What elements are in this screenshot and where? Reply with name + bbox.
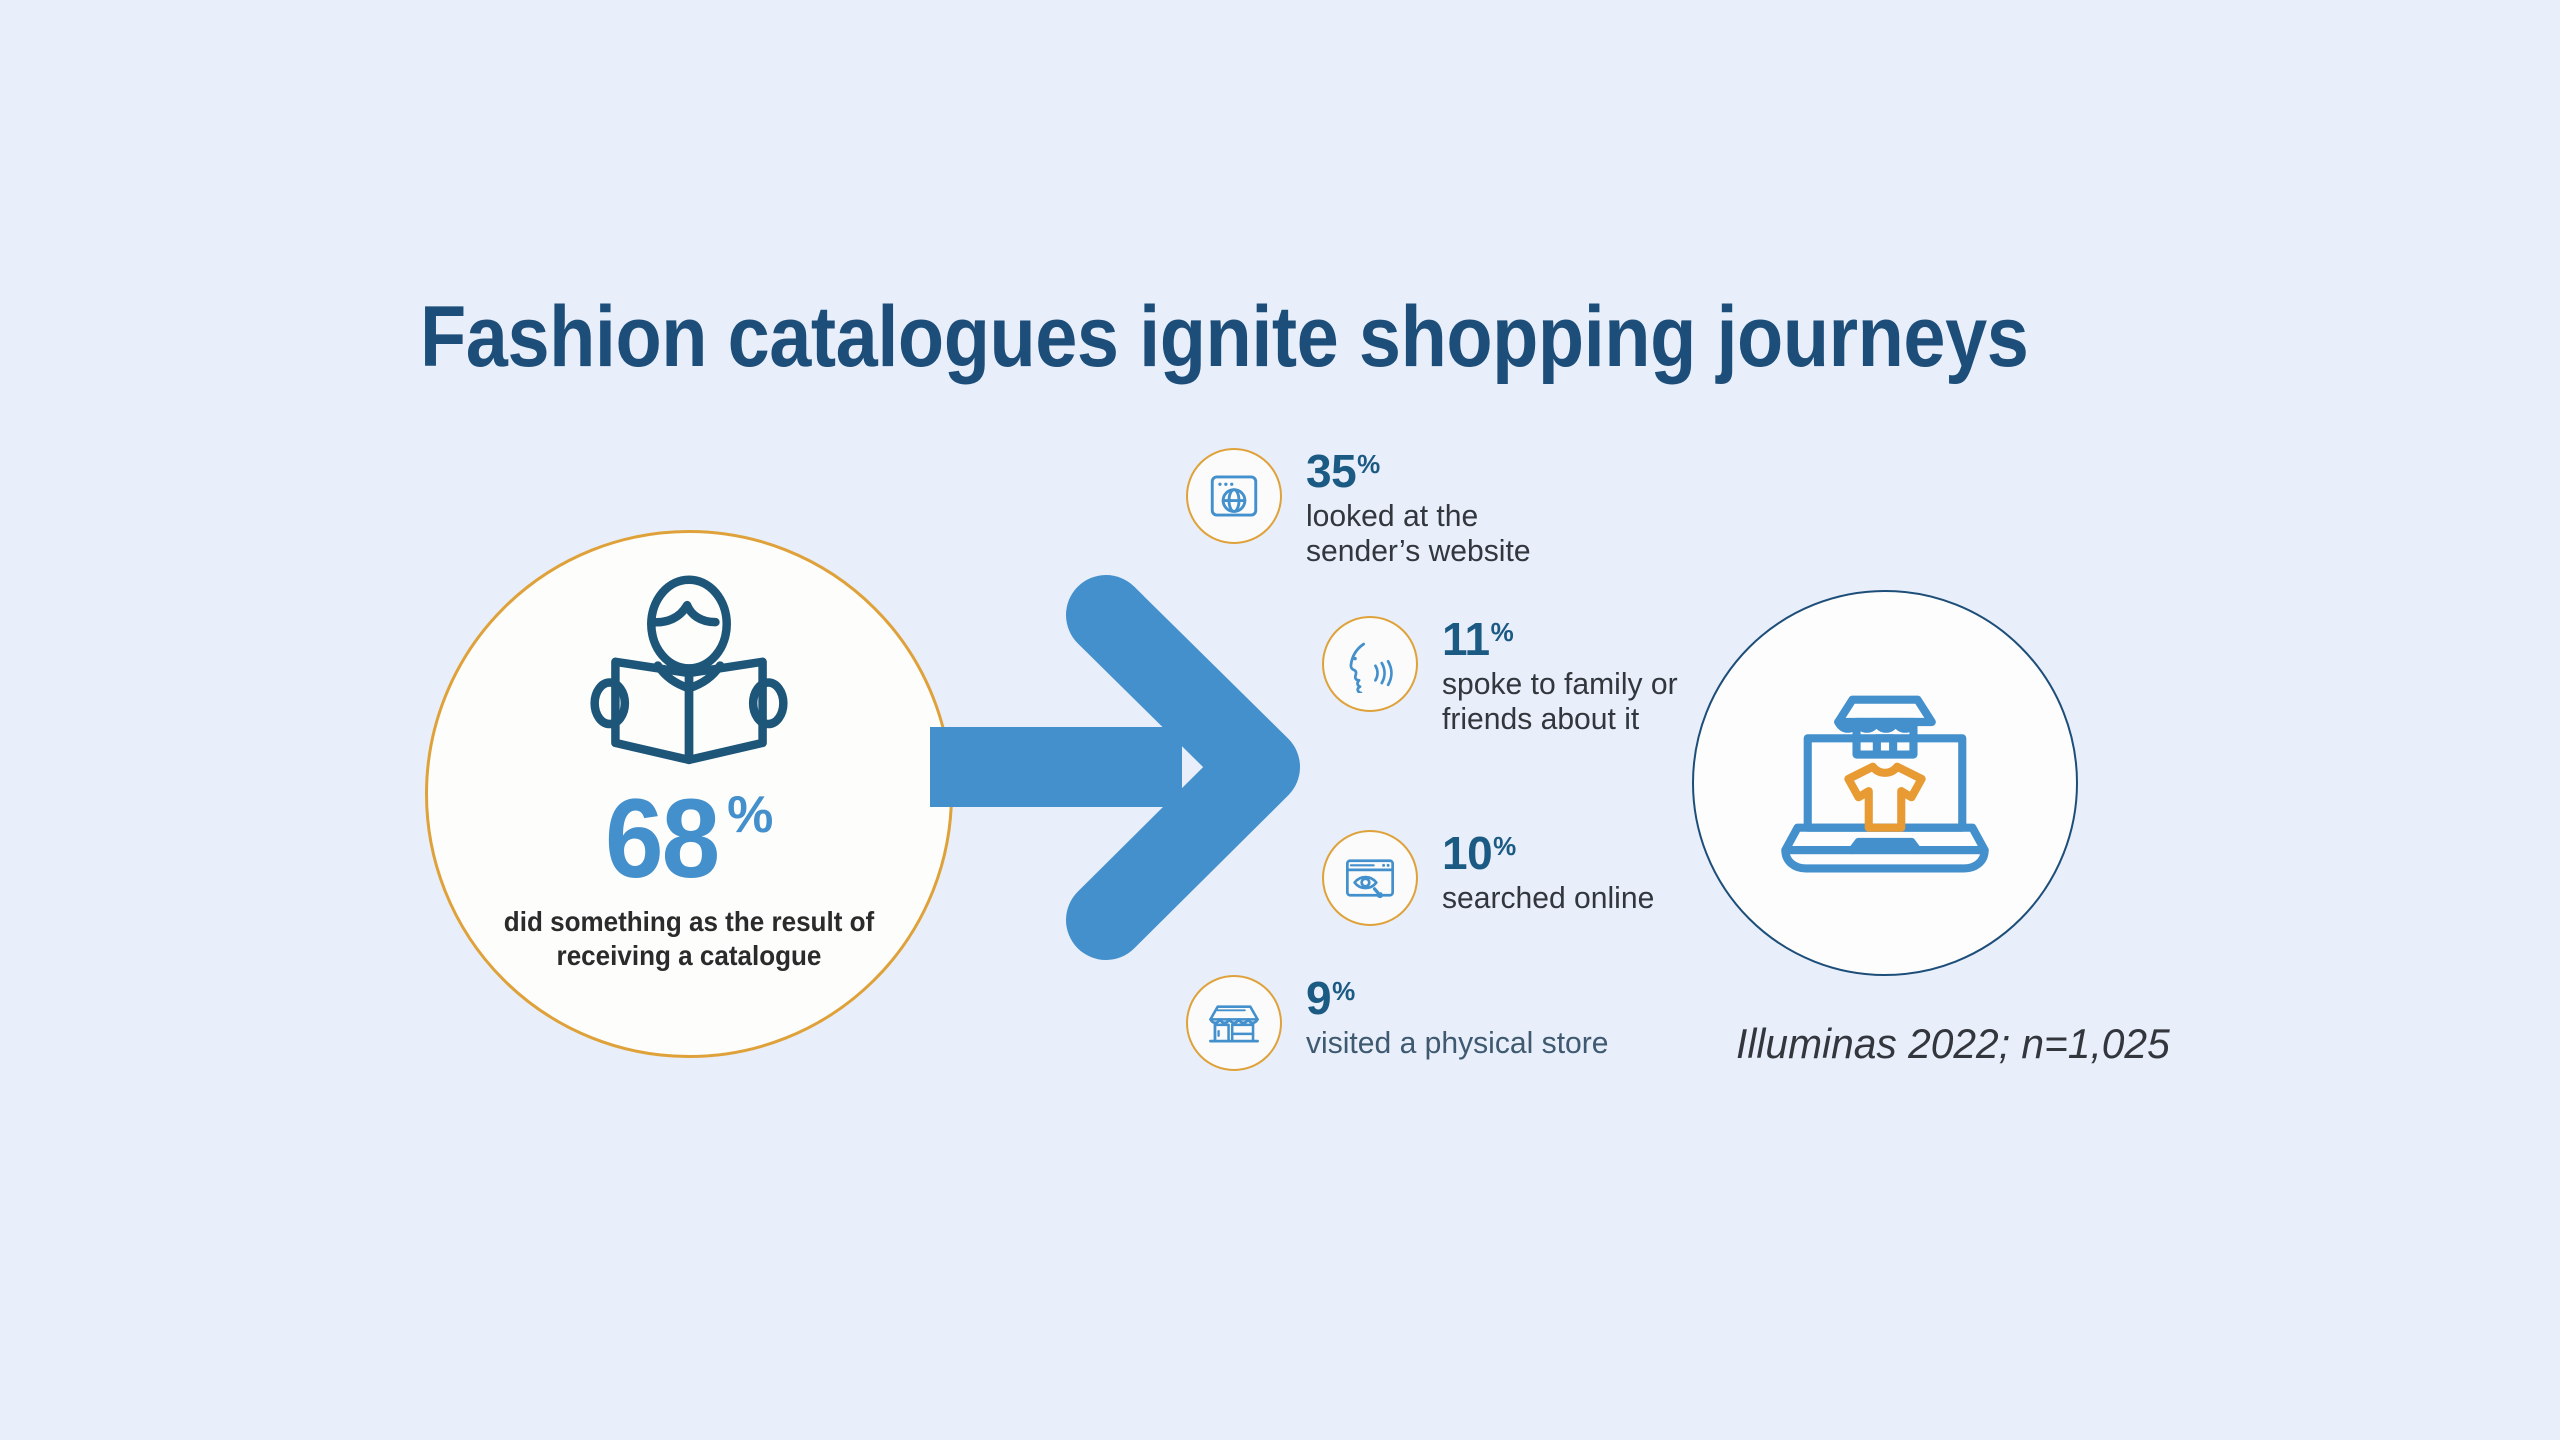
infographic-canvas: Fashion catalogues ignite shopping journ… (0, 0, 2560, 1440)
outcome-circle (1692, 590, 2078, 976)
laptop-shop-tshirt-icon (1763, 661, 2007, 905)
stat-label: visited a physical store (1306, 1025, 1609, 1060)
page-title: Fashion catalogues ignite shopping journ… (420, 288, 2028, 387)
stat-percentage: 35 % (1306, 450, 1538, 494)
stat-text: 9 % visited a physical store (1306, 975, 1618, 1060)
stat-value: 9 (1306, 977, 1331, 1021)
right-arrow-icon (930, 575, 1310, 960)
hero-percentage: 68 % (605, 783, 774, 895)
stat-percentage: 11 % (1442, 618, 1685, 662)
stat-row: 10 % searched online (1322, 830, 1661, 926)
speaking-face-icon (1322, 616, 1418, 712)
hero-caption: did something as the result of receiving… (446, 905, 931, 973)
stat-value: 35 (1306, 450, 1356, 494)
stat-label: looked at the sender’s website (1306, 498, 1531, 568)
stat-row: 11 % spoke to family or friends about it (1322, 616, 1685, 736)
stat-percentage: 9 % (1306, 977, 1618, 1021)
storefront-icon (1186, 975, 1282, 1071)
stat-percent-symbol: % (1357, 452, 1380, 477)
stat-label: searched online (1442, 880, 1654, 915)
browser-globe-icon (1186, 448, 1282, 544)
stat-label: spoke to family or friends about it (1442, 666, 1678, 736)
stat-value: 10 (1442, 832, 1492, 876)
source-citation: Illuminas 2022; n=1,025 (1736, 1020, 2170, 1068)
stat-text: 10 % searched online (1442, 830, 1661, 915)
stat-percentage: 10 % (1442, 832, 1661, 876)
stat-row: 35 % looked at the sender’s website (1186, 448, 1538, 568)
hero-stat-circle: 68 % did something as the result of rece… (425, 530, 953, 1058)
stat-percent-symbol: % (1332, 979, 1355, 1004)
stat-row: 9 % visited a physical store (1186, 975, 1618, 1071)
stat-text: 35 % looked at the sender’s website (1306, 448, 1538, 568)
hero-value: 68 (605, 783, 718, 895)
stat-value: 11 (1442, 618, 1490, 662)
person-reading-catalogue-icon (585, 575, 793, 775)
stat-percent-symbol: % (1491, 620, 1514, 645)
hero-percent-symbol: % (727, 789, 773, 841)
stat-text: 11 % spoke to family or friends about it (1442, 616, 1685, 736)
stat-percent-symbol: % (1493, 834, 1516, 859)
browser-eye-search-icon (1322, 830, 1418, 926)
